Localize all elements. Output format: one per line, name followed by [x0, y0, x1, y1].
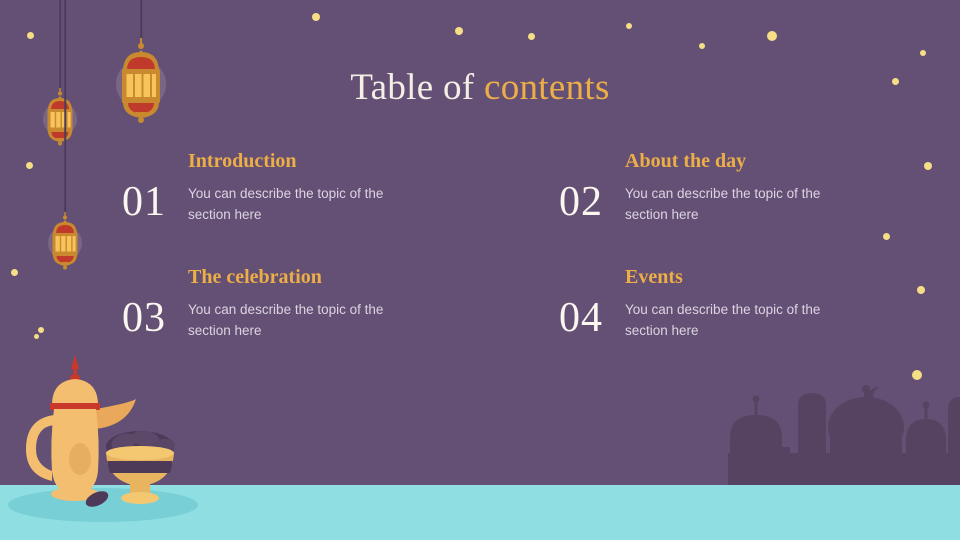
star-dot [455, 27, 463, 35]
table-of-contents: 01 Introduction You can describe the top… [100, 150, 900, 342]
slide-canvas: Table of contents 01 Introduction You ca… [0, 0, 960, 540]
page-title-main: Table of [350, 67, 484, 108]
star-dot [34, 334, 39, 339]
toc-description: You can describe the topic of the sectio… [188, 300, 413, 342]
star-dot [912, 370, 922, 380]
star-dot [917, 286, 925, 294]
star-dot [312, 13, 320, 21]
toc-description: You can describe the topic of the sectio… [625, 184, 850, 226]
lantern-cord [140, 0, 142, 38]
toc-item-02[interactable]: 02 About the day You can describe the to… [537, 150, 900, 226]
toc-item-04[interactable]: 04 Events You can describe the topic of … [537, 266, 900, 342]
toc-heading: The celebration [188, 266, 463, 288]
star-dot [920, 50, 926, 56]
page-title: Table of contents [0, 66, 960, 109]
star-dot [38, 327, 44, 333]
star-dot [626, 23, 632, 29]
toc-number: 03 [100, 266, 188, 339]
toc-item-01[interactable]: 01 Introduction You can describe the top… [100, 150, 463, 226]
arabic-coffee-pot-and-dates [18, 353, 198, 518]
toc-heading: Events [625, 266, 900, 288]
star-dot [26, 162, 33, 169]
toc-description: You can describe the topic of the sectio… [625, 300, 850, 342]
toc-heading: Introduction [188, 150, 463, 172]
star-dot [27, 32, 34, 39]
toc-number: 04 [537, 266, 625, 339]
star-dot [699, 43, 705, 49]
toc-text-block: Events You can describe the topic of the… [625, 266, 900, 342]
toc-description: You can describe the topic of the sectio… [188, 184, 413, 226]
toc-text-block: The celebration You can describe the top… [188, 266, 463, 342]
star-dot [767, 31, 777, 41]
toc-item-03[interactable]: 03 The celebration You can describe the … [100, 266, 463, 342]
toc-text-block: About the day You can describe the topic… [625, 150, 900, 226]
lantern-small-lower [46, 212, 84, 270]
star-dot [924, 162, 932, 170]
toc-number: 02 [537, 150, 625, 223]
crescent-moon-icon [866, 387, 892, 413]
star-dot [11, 269, 18, 276]
toc-text-block: Introduction You can describe the topic … [188, 150, 463, 226]
star-dot [528, 33, 535, 40]
toc-number: 01 [100, 150, 188, 223]
page-title-accent: contents [484, 67, 610, 108]
mosque-silhouette [720, 375, 960, 485]
toc-heading: About the day [625, 150, 900, 172]
